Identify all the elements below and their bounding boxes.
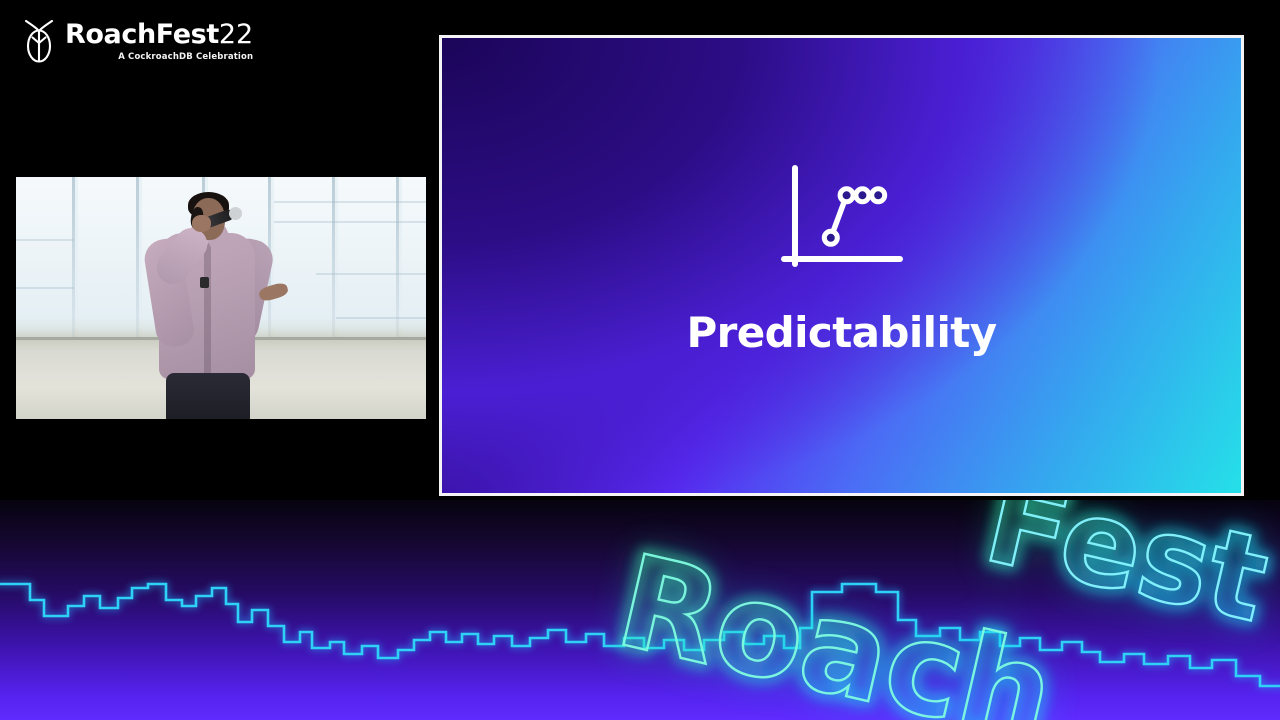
- slide-title: Predictability: [686, 308, 996, 357]
- event-title: RoachFest22: [65, 21, 253, 48]
- event-logo-text: RoachFest22 A CockroachDB Celebration: [65, 21, 253, 62]
- presentation-slide[interactable]: Predictability: [439, 35, 1244, 496]
- event-logo: RoachFest22 A CockroachDB Celebration: [22, 18, 253, 64]
- event-title-year: 22: [219, 19, 253, 50]
- neon-lower-band: Roach Fest Roach Fest: [0, 500, 1280, 720]
- event-tagline: A CockroachDB Celebration: [118, 53, 253, 62]
- lavalier-mic-icon: [200, 277, 209, 288]
- livestream-stage: RoachFest22 A CockroachDB Celebration: [0, 0, 1280, 720]
- presenter-video[interactable]: [16, 177, 426, 419]
- cockroachdb-logo-icon: [22, 18, 56, 64]
- event-title-name: RoachFest: [65, 19, 219, 50]
- roachfest-neon-text: Roach Fest Roach Fest: [0, 500, 1280, 720]
- line-chart-icon: [778, 164, 906, 282]
- microphone-head-icon: [229, 207, 242, 220]
